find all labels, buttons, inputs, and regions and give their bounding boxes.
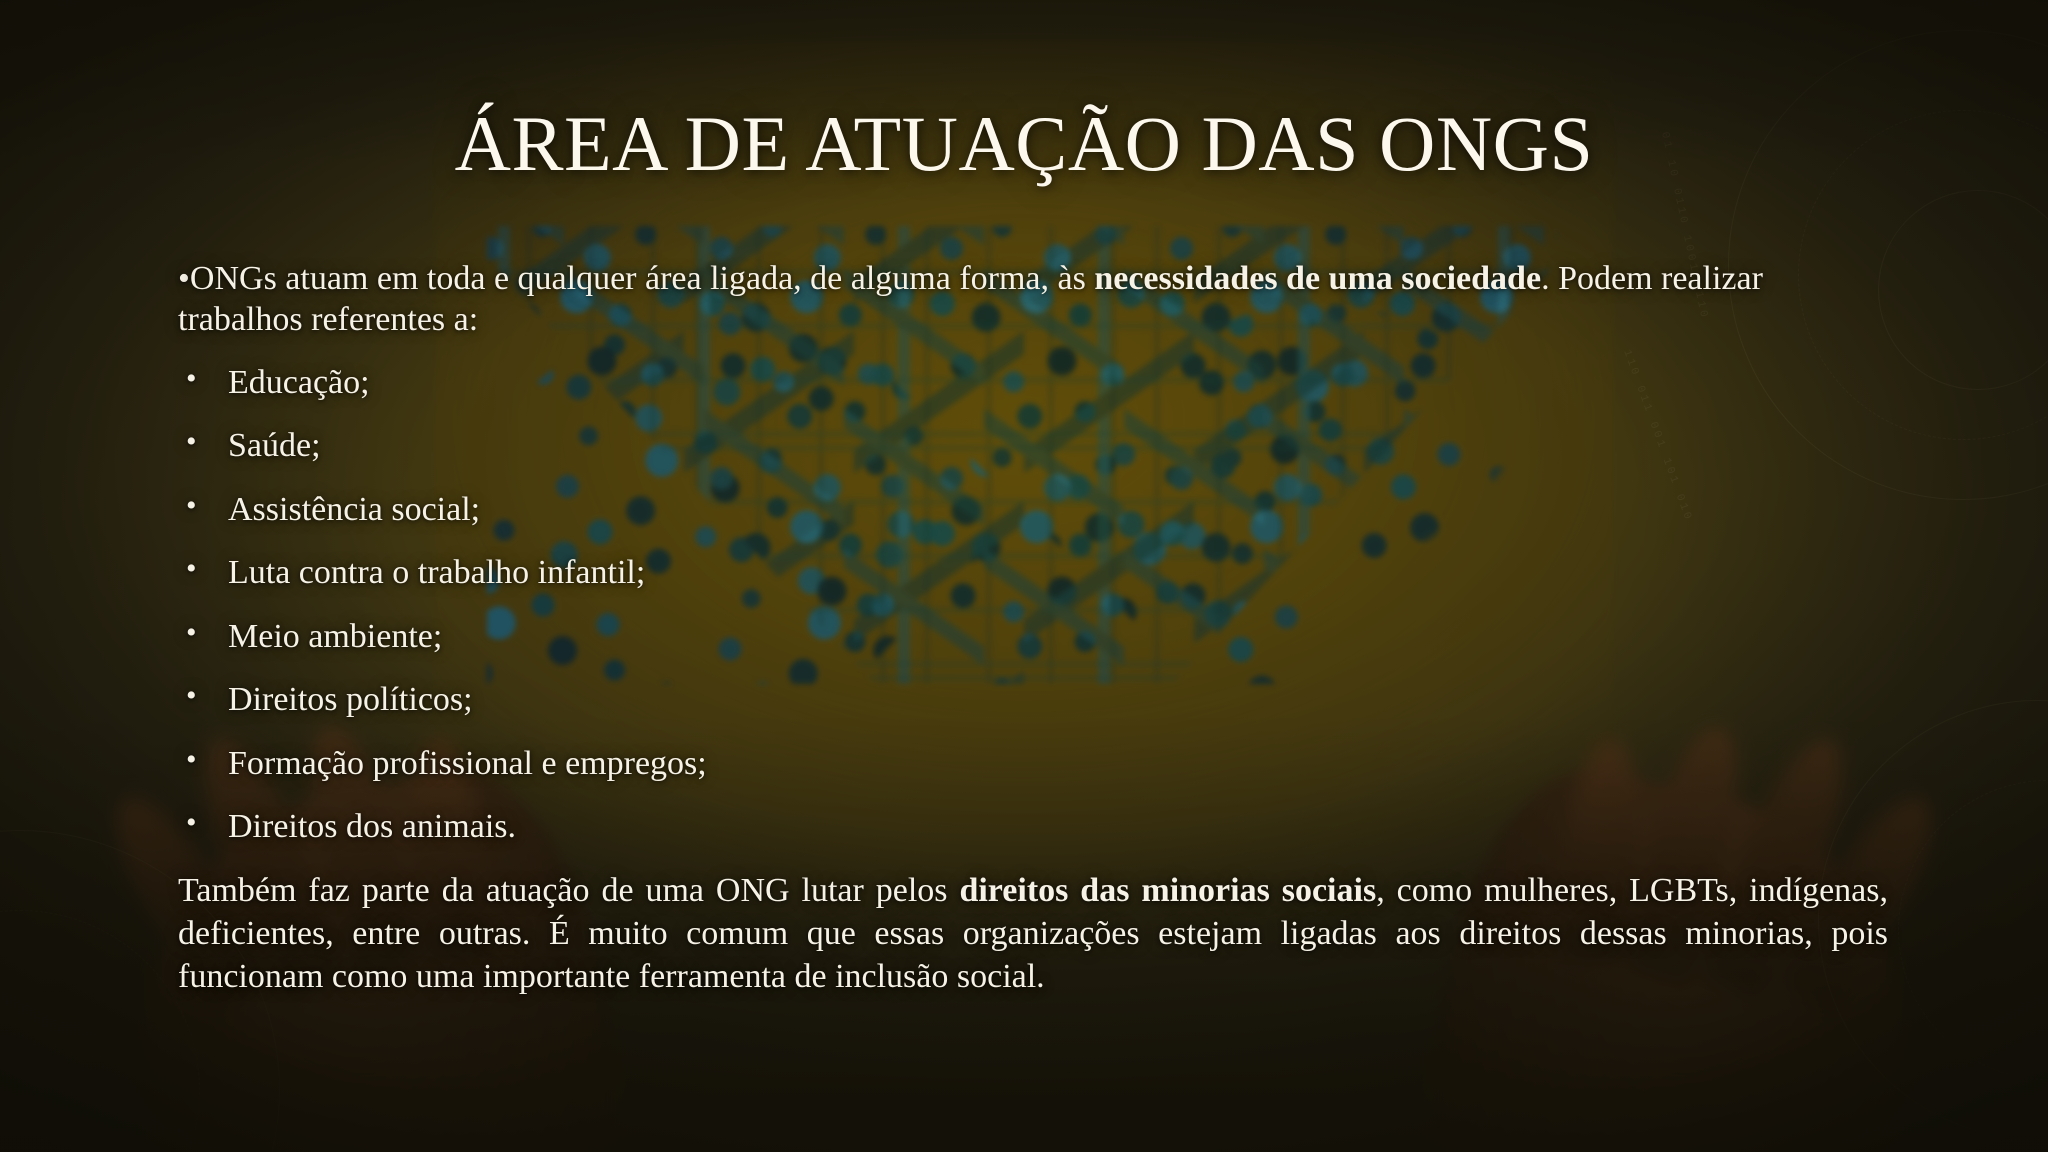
slide-body: •ONGs atuam em toda e qualquer área liga… — [178, 258, 1888, 999]
closing-text-before-bold: Também faz parte da atuação de uma ONG l… — [178, 872, 959, 909]
list-item: Saúde; — [178, 426, 1888, 465]
closing-paragraph: Também faz parte da atuação de uma ONG l… — [178, 870, 1888, 998]
list-item-label: Formação profissional e empregos; — [228, 745, 707, 782]
list-item: Luta contra o trabalho infantil; — [178, 553, 1888, 592]
lead-paragraph: •ONGs atuam em toda e qualquer área liga… — [178, 258, 1888, 341]
list-item: Educação; — [178, 363, 1888, 402]
list-item-label: Assistência social; — [228, 491, 480, 528]
list-item-label: Luta contra o trabalho infantil; — [228, 554, 645, 591]
list-item: Assistência social; — [178, 490, 1888, 529]
list-item-label: Educação; — [228, 364, 370, 401]
list-item: Direitos dos animais. — [178, 807, 1888, 846]
slide-title: ÁREA DE ATUAÇÃO DAS ONGS — [0, 104, 2048, 184]
lead-bold-phrase: necessidades de uma sociedade — [1094, 260, 1541, 297]
slide-content: ÁREA DE ATUAÇÃO DAS ONGS •ONGs atuam em … — [0, 0, 2048, 1152]
list-item: Meio ambiente; — [178, 617, 1888, 656]
lead-text-before-bold: ONGs atuam em toda e qualquer área ligad… — [190, 260, 1094, 297]
list-item-label: Direitos políticos; — [228, 681, 473, 718]
list-item-label: Saúde; — [228, 427, 321, 464]
list-item: Formação profissional e empregos; — [178, 744, 1888, 783]
list-item-label: Meio ambiente; — [228, 618, 442, 655]
presentation-slide: 01 10 0110 1001 0110 110 011 001 101 010… — [0, 0, 2048, 1152]
list-item: Direitos políticos; — [178, 680, 1888, 719]
lead-bullet-marker: • — [178, 260, 190, 297]
list-item-label: Direitos dos animais. — [228, 808, 516, 845]
closing-bold-phrase: direitos das minorias sociais — [959, 872, 1376, 909]
areas-of-action-list: Educação; Saúde; Assistência social; Lut… — [178, 363, 1888, 847]
